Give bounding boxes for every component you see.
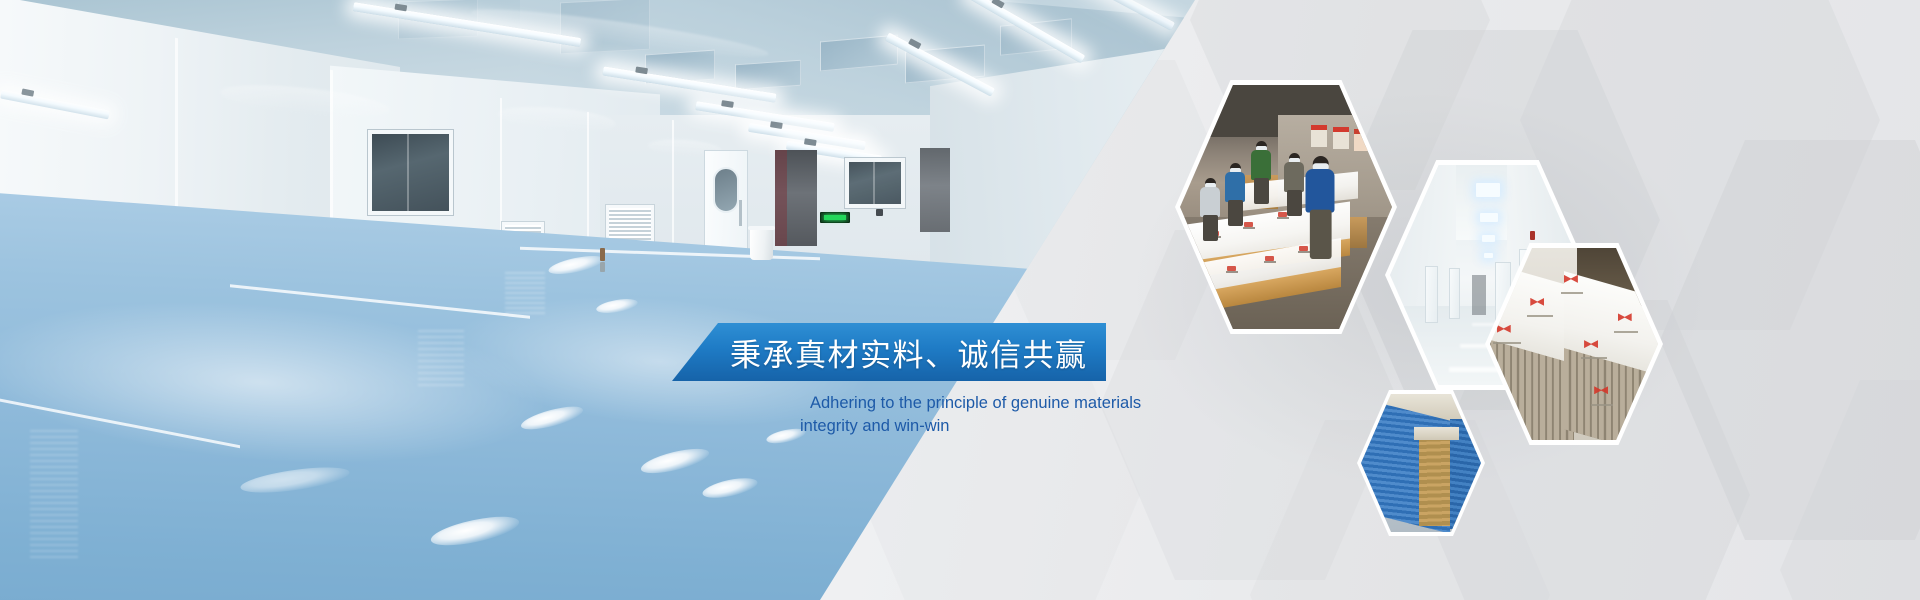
open-doorway-far <box>920 148 950 232</box>
cleanroom-door <box>704 150 748 250</box>
observation-window <box>368 130 453 215</box>
wall-fitting <box>876 209 883 216</box>
subtitle-line-2: integrity and win-win <box>800 415 1220 438</box>
headline-text-cn: 秉承真材实料、诚信共赢 <box>730 330 1088 375</box>
headline-ribbon: 秉承真材实料、诚信共赢 <box>672 323 1106 381</box>
small-object-reflection <box>600 262 605 272</box>
floor-grille-reflection <box>30 430 78 560</box>
floor-grille-reflection <box>505 272 545 314</box>
white-bucket <box>750 228 773 260</box>
exit-sign-icon <box>820 212 850 223</box>
ceiling-hepa-panel <box>735 60 801 91</box>
subtitle-line-1: Adhering to the principle of genuine mat… <box>800 392 1220 415</box>
subtitle-block: Adhering to the principle of genuine mat… <box>800 392 1220 439</box>
hex-watermark <box>1780 380 1920 600</box>
observation-window <box>845 158 905 208</box>
open-doorway <box>775 150 817 246</box>
small-floor-object <box>600 248 605 261</box>
hero-banner: 秉承真材实料、诚信共赢 Adhering to the principle of… <box>0 0 1920 600</box>
floor-grille-reflection <box>418 330 464 390</box>
